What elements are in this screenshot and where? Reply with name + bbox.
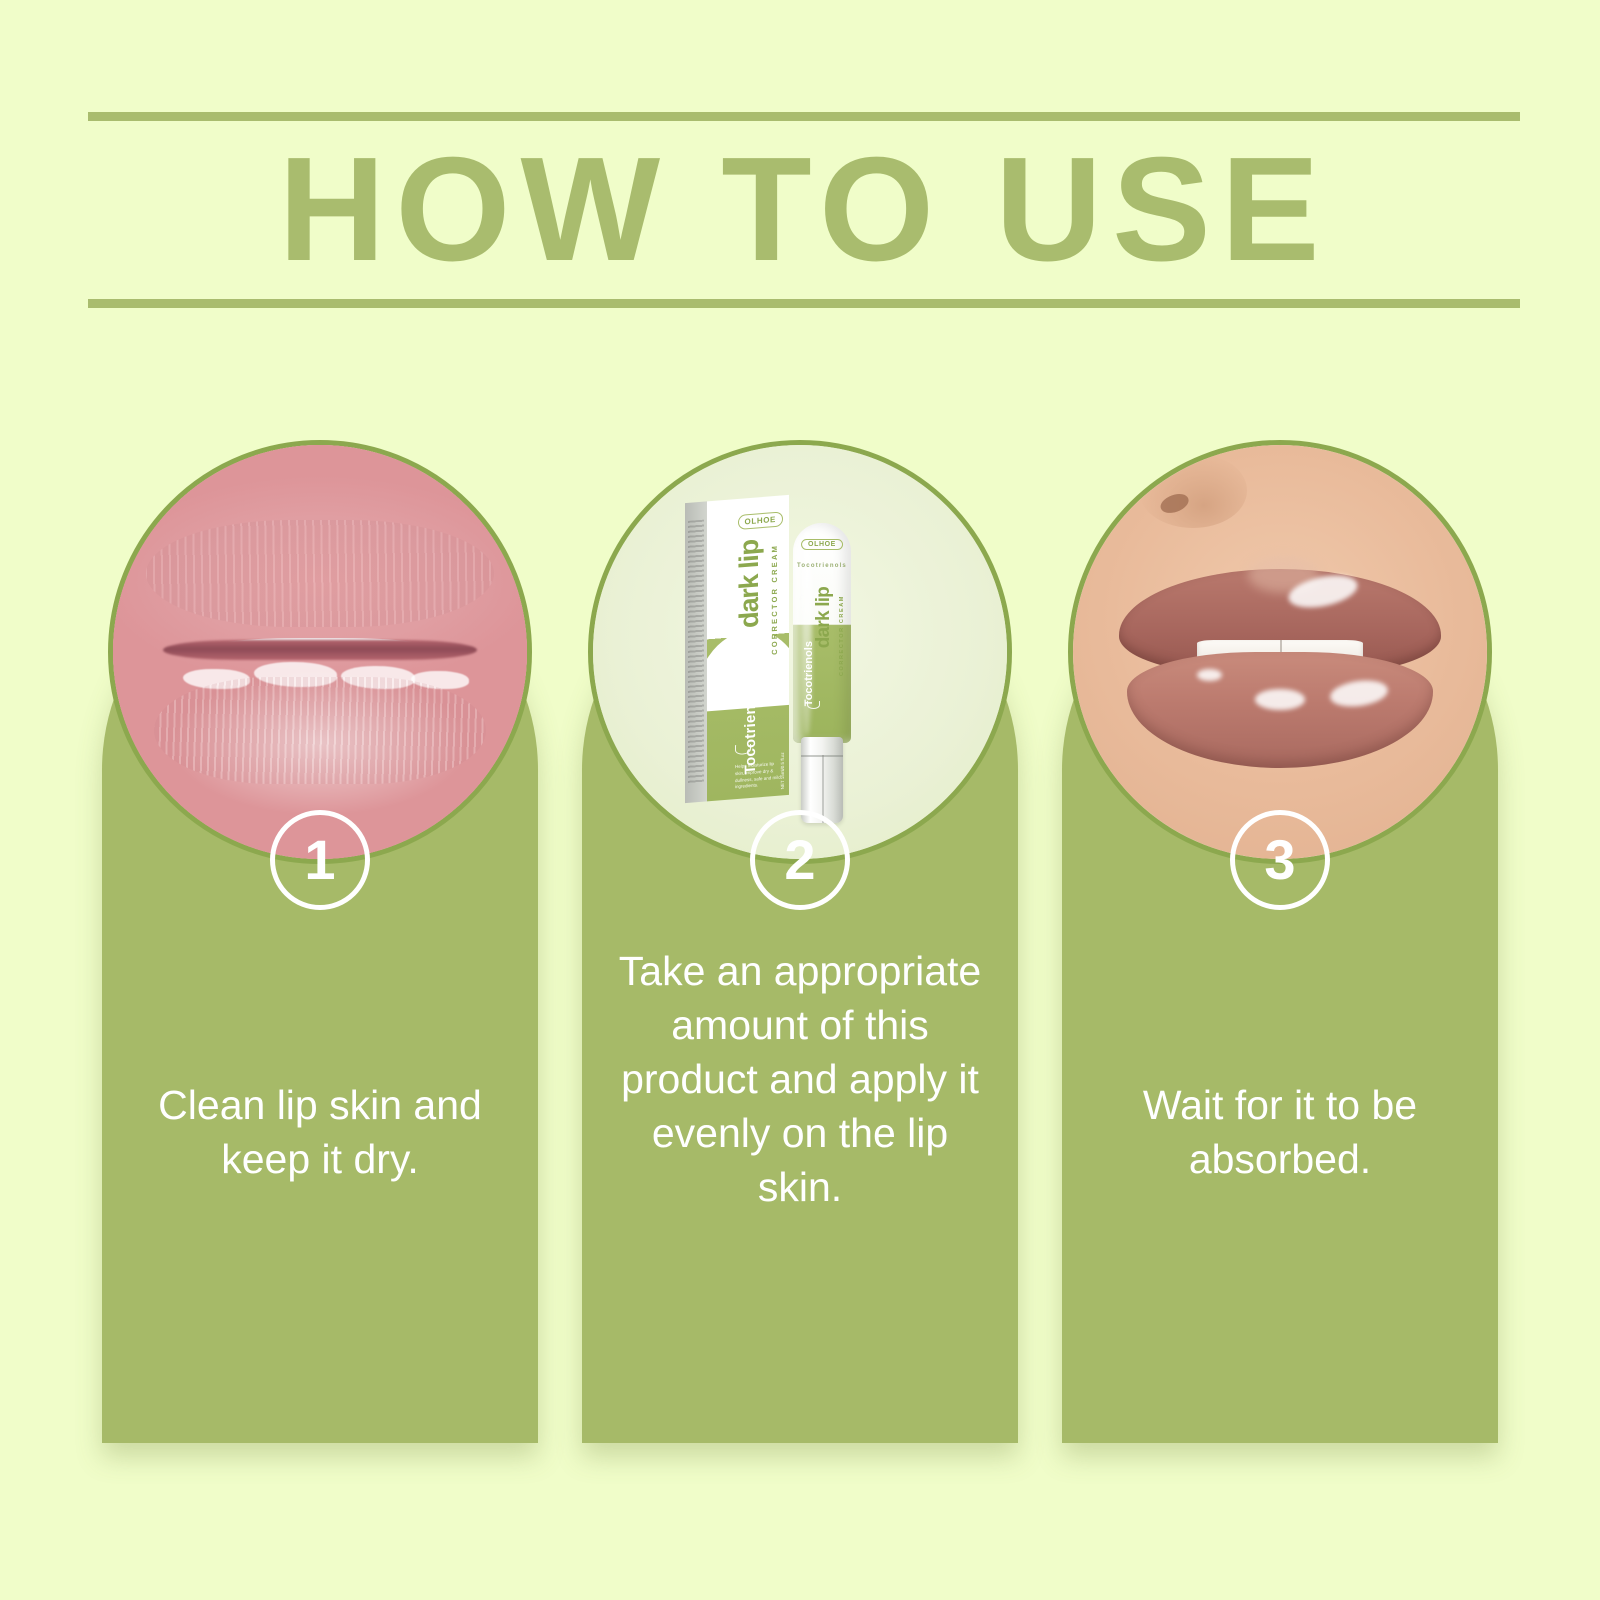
product-carton: OLHOE dark lip CORRECTOR CREAM Tocotrien… xyxy=(685,495,789,803)
header-bottom-rule xyxy=(88,299,1520,308)
gloss-highlight xyxy=(1255,689,1305,710)
carton-brand-label: OLHOE xyxy=(738,511,783,530)
chapped-lips-photo xyxy=(108,440,532,864)
tube-body: OLHOE Tocotrienols dark lip CORRECTOR CR… xyxy=(793,523,851,743)
carton-product-name: dark lip xyxy=(734,539,765,629)
lip-texture-upper xyxy=(146,520,494,628)
step-card-3[interactable]: 3 Wait for it to be absorbed. xyxy=(1062,552,1498,1443)
step-number-badge-2: 2 xyxy=(750,810,850,910)
header-top-rule xyxy=(88,112,1520,121)
carton-net-weight: NET 15ml/0.5 fl.oz xyxy=(780,752,785,789)
tube-ingredient-label: Tocotrienols xyxy=(803,641,815,706)
page-title: HOW TO USE xyxy=(88,136,1520,284)
carton-front-face: OLHOE dark lip CORRECTOR CREAM Tocotrien… xyxy=(707,495,789,801)
carton-product-subtitle: CORRECTOR CREAM xyxy=(770,544,779,655)
page-header: HOW TO USE xyxy=(88,112,1520,308)
chapped-lips-illustration xyxy=(113,445,527,859)
step-number-badge-3: 3 xyxy=(1230,810,1330,910)
glossy-lips-photo xyxy=(1068,440,1492,864)
gloss-highlight xyxy=(1197,669,1222,681)
tube-ingredient-top-label: Tocotrienols xyxy=(797,563,847,569)
step-card-1[interactable]: 1 Clean lip skin and keep it dry. xyxy=(102,552,538,1443)
product-package-photo: OLHOE dark lip CORRECTOR CREAM Tocotrien… xyxy=(588,440,1012,864)
tube-product-name: dark lip xyxy=(813,587,835,648)
carton-blurb: Helps moisturize lip skin, improve dry &… xyxy=(735,760,783,791)
lip-texture-lower xyxy=(154,677,485,785)
carton-ingredient-label: Tocotrienols xyxy=(742,682,759,775)
product-tube: OLHOE Tocotrienols dark lip CORRECTOR CR… xyxy=(789,523,855,823)
tube-cap-seam-vertical xyxy=(822,755,824,823)
tube-product-subtitle: CORRECTOR CREAM xyxy=(839,595,845,676)
step-number-badge-1: 1 xyxy=(270,810,370,910)
step-caption-2: Take an appropriate amount of this produ… xyxy=(608,944,992,1215)
product-stage: OLHOE dark lip CORRECTOR CREAM Tocotrien… xyxy=(593,445,1007,859)
step-caption-3: Wait for it to be absorbed. xyxy=(1088,1078,1472,1186)
step-card-2[interactable]: OLHOE dark lip CORRECTOR CREAM Tocotrien… xyxy=(582,552,1018,1443)
lip-leaf-icon xyxy=(807,701,820,709)
lower-lip xyxy=(1127,652,1433,768)
step-caption-1: Clean lip skin and keep it dry. xyxy=(128,1078,512,1186)
glossy-lips-illustration xyxy=(1073,445,1487,859)
tube-brand-label: OLHOE xyxy=(801,539,843,550)
nose-shape xyxy=(1139,453,1247,528)
carton-spine xyxy=(685,501,707,803)
carton-spine-text-lines xyxy=(688,520,704,785)
mouth-line xyxy=(163,640,478,661)
